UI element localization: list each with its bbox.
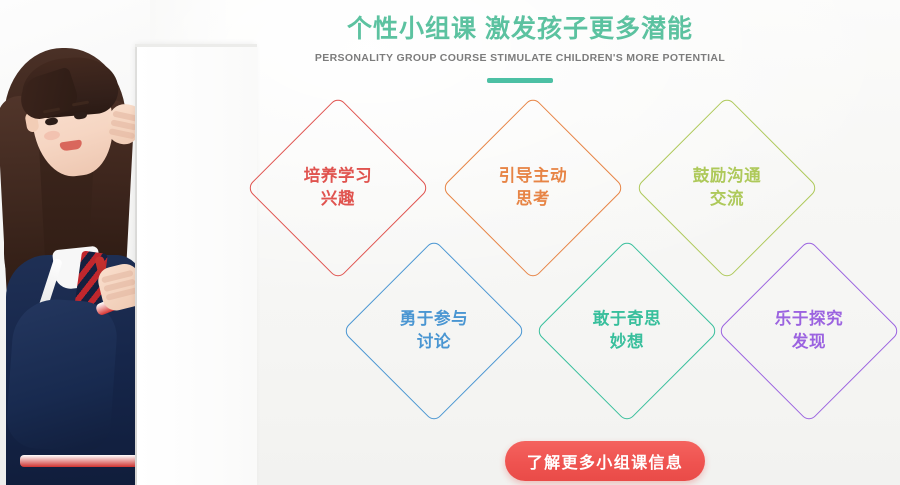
student-photo [0,0,150,485]
promo-banner: 个性小组课 激发孩子更多潜能 PERSONALITY GROUP COURSE … [0,0,900,485]
diamond-outline [342,239,526,423]
white-board-panel [137,44,257,485]
feature-diamond-enjoy-exploration[interactable]: 乐于探究 发现 [744,266,874,396]
header: 个性小组课 激发孩子更多潜能 PERSONALITY GROUP COURSE … [140,0,900,83]
page-subtitle: PERSONALITY GROUP COURSE STIMULATE CHILD… [140,52,900,64]
diamond-outline [717,239,900,423]
title-divider [487,78,553,83]
diamond-outline [246,96,430,280]
feature-diamond-brave-participation[interactable]: 勇于参与 讨论 [369,266,499,396]
diamond-outline [635,96,819,280]
feature-diamond-encourage-communication[interactable]: 鼓励沟通 交流 [662,123,792,253]
feature-diamond-guide-thinking[interactable]: 引导主动 思考 [468,123,598,253]
sweater-hem [20,455,140,467]
feature-diamond-cultivate-interest[interactable]: 培养学习 兴趣 [273,123,403,253]
diamond-outline [535,239,719,423]
feature-diamond-dare-imagination[interactable]: 敢于奇思 妙想 [562,266,692,396]
page-title: 个性小组课 激发孩子更多潜能 [140,9,900,45]
arm [5,297,119,454]
learn-more-button[interactable]: 了解更多小组课信息 [505,441,705,481]
diamond-outline [441,96,625,280]
